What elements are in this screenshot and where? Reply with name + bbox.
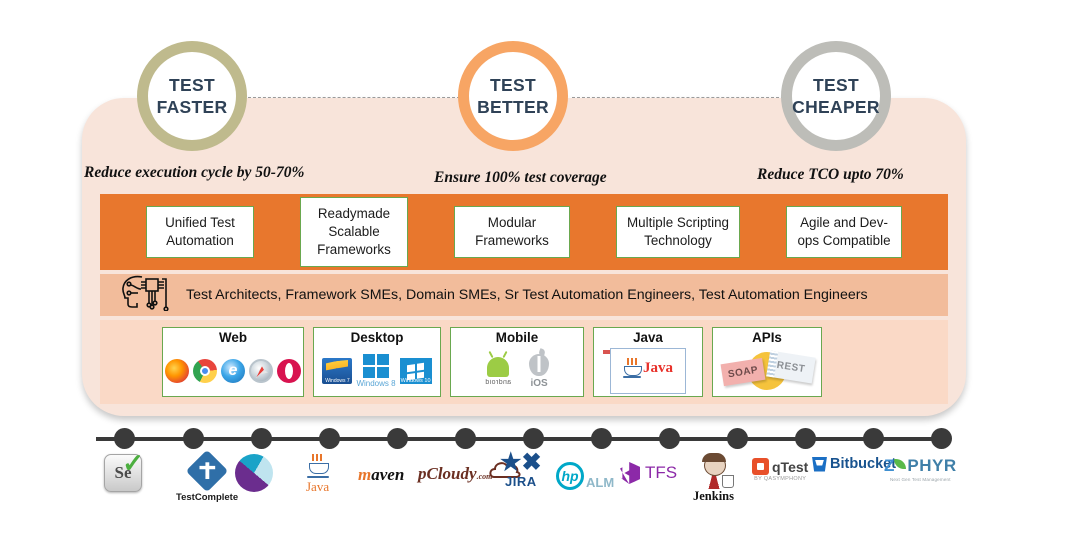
- timeline-dot: [863, 428, 884, 449]
- connector-dashed-right: [572, 97, 784, 98]
- timeline-dot: [319, 428, 340, 449]
- timeline-dot: [591, 428, 612, 449]
- tool-jenkins[interactable]: Jenkins: [693, 455, 734, 504]
- platform-title: Mobile: [496, 331, 538, 346]
- goal-line1: TEST: [169, 74, 215, 96]
- goal-circle-test-better[interactable]: TEST BETTER: [458, 41, 568, 151]
- platform-card-desktop[interactable]: Desktop Windows 7 Windows 8 Windows 10: [313, 327, 441, 397]
- tfs-label: TFS: [645, 463, 677, 483]
- timeline-dot: [795, 428, 816, 449]
- feature-card[interactable]: Unified Test Automation: [146, 206, 254, 257]
- tool-caption: TestComplete: [176, 492, 238, 503]
- timeline-dot: [387, 428, 408, 449]
- zephyr-label: PHYR: [907, 456, 956, 476]
- platforms-band: Web Desktop Windows 7 Windows 8: [100, 320, 948, 404]
- platform-card-apis[interactable]: APIs SOAP REST: [712, 327, 822, 397]
- goal-circle-test-faster[interactable]: TEST FASTER: [137, 41, 247, 151]
- tool-maven[interactable]: mmavenaven: [358, 465, 404, 485]
- chrome-icon: [193, 359, 217, 383]
- tool-java[interactable]: Java: [306, 454, 329, 495]
- zephyr-icon: Z PHYR: [884, 456, 957, 476]
- qtest-icon: qTest: [752, 458, 808, 475]
- qtest-subtitle: BY QASYMPHONY: [754, 476, 806, 482]
- infographic-root: TEST FASTER TEST BETTER TEST CHEAPER Red…: [0, 0, 1066, 556]
- tfs-icon: TFS: [620, 462, 677, 484]
- goal-caption-better: Ensure 100% test coverage: [434, 169, 607, 187]
- timeline-dot: [523, 428, 544, 449]
- firefox-icon: [165, 359, 189, 383]
- testcomplete-icon: [186, 450, 228, 492]
- hp-alm-icon: hp ALM: [556, 462, 614, 490]
- platform-title: Desktop: [351, 331, 404, 346]
- timeline-dot: [114, 428, 135, 449]
- goal-caption-faster: Reduce execution cycle by 50-70%: [84, 164, 304, 182]
- tool-testcomplete[interactable]: TestComplete: [176, 456, 238, 503]
- goal-line2: CHEAPER: [792, 96, 880, 118]
- feature-card[interactable]: Modular Frameworks: [454, 206, 570, 257]
- tools-timeline: [96, 437, 951, 441]
- feature-card[interactable]: Multiple Scripting Technology: [616, 206, 740, 257]
- timeline-dot: [251, 428, 272, 449]
- jira-icon: ★✖: [500, 452, 542, 474]
- platform-card-java[interactable]: Java Java: [593, 327, 703, 397]
- api-cards-group: SOAP REST: [720, 349, 814, 393]
- maven-icon: mmavenaven: [358, 465, 404, 485]
- windows-8-label: Windows 8: [356, 379, 395, 388]
- hp-label: hp: [556, 462, 584, 490]
- tool-jira[interactable]: ★✖ JIRA: [500, 452, 542, 489]
- timeline-dot: [727, 428, 748, 449]
- goal-line2: BETTER: [477, 96, 549, 118]
- android-icon: android: [485, 357, 511, 386]
- goal-line1: TEST: [813, 74, 859, 96]
- windows-10-icon: Windows 10: [400, 358, 432, 384]
- tool-selenium[interactable]: Se ✓: [104, 454, 142, 492]
- tool-pcloudy[interactable]: pCloudy.com: [418, 464, 492, 484]
- zephyr-subtitle: Next Gen Test Management: [890, 477, 951, 482]
- safari-icon: [249, 359, 273, 383]
- opera-icon: [277, 359, 301, 383]
- platform-title: Java: [633, 331, 663, 346]
- windows-8-icon: Windows 8: [356, 354, 395, 388]
- platform-card-web[interactable]: Web: [162, 327, 304, 397]
- apple-ios-icon: iOS: [529, 354, 549, 389]
- java-label: Java: [306, 479, 329, 495]
- goal-line2: FASTER: [157, 96, 228, 118]
- timeline-dot: [455, 428, 476, 449]
- ios-label: iOS: [530, 378, 547, 389]
- pcloudy-icon: pCloudy.com: [418, 464, 492, 484]
- windows-7-label: Windows 7: [322, 378, 352, 384]
- feature-card[interactable]: Agile and Dev-ops Compatible: [786, 206, 902, 257]
- goal-circle-test-cheaper[interactable]: TEST CHEAPER: [781, 41, 891, 151]
- tool-tfs[interactable]: TFS: [620, 462, 677, 484]
- tool-caption: Jenkins: [693, 489, 734, 504]
- check-icon: ✓: [122, 450, 144, 476]
- visual-studio-icon: [620, 462, 640, 484]
- internet-explorer-icon: [221, 359, 245, 383]
- platform-title: APIs: [752, 331, 782, 346]
- tool-qtest[interactable]: qTest BY QASYMPHONY: [752, 458, 808, 482]
- alm-label: ALM: [586, 475, 614, 490]
- connector-dashed-left: [248, 97, 460, 98]
- windows-10-label: Windows 10: [400, 378, 432, 384]
- tool-hp-alm[interactable]: hp ALM: [556, 462, 614, 490]
- tool-zephyr[interactable]: Z PHYR Next Gen Test Management: [884, 456, 957, 482]
- ai-head-chip-icon: [118, 273, 172, 316]
- timeline-dot: [183, 428, 204, 449]
- pcloudy-label: pCloudy: [418, 464, 477, 483]
- java-icon: Java: [306, 454, 329, 495]
- selenium-icon: Se ✓: [104, 454, 142, 492]
- goal-line1: TEST: [490, 74, 536, 96]
- goal-caption-cheaper: Reduce TCO upto 70%: [757, 166, 904, 184]
- platform-card-mobile[interactable]: Mobile android iOS: [450, 327, 584, 397]
- features-band: Unified Test Automation Readymade Scalab…: [100, 194, 948, 270]
- feature-card[interactable]: Readymade Scalable Frameworks: [300, 197, 408, 266]
- java-window-icon: Java: [610, 348, 686, 394]
- jenkins-icon: [699, 455, 729, 489]
- roles-text: Test Architects, Framework SMEs, Domain …: [186, 287, 868, 303]
- timeline-dot: [931, 428, 952, 449]
- java-label: Java: [643, 360, 673, 377]
- jira-label: JIRA: [505, 474, 537, 489]
- android-label: android: [485, 379, 511, 386]
- roles-band: Test Architects, Framework SMEs, Domain …: [100, 274, 948, 316]
- platform-title: Web: [219, 331, 247, 346]
- tool-uft[interactable]: [235, 454, 273, 492]
- timeline-dot: [659, 428, 680, 449]
- qtest-label: qTest: [772, 459, 808, 475]
- windows-7-icon: Windows 7: [322, 358, 352, 384]
- uft-icon: [235, 454, 273, 492]
